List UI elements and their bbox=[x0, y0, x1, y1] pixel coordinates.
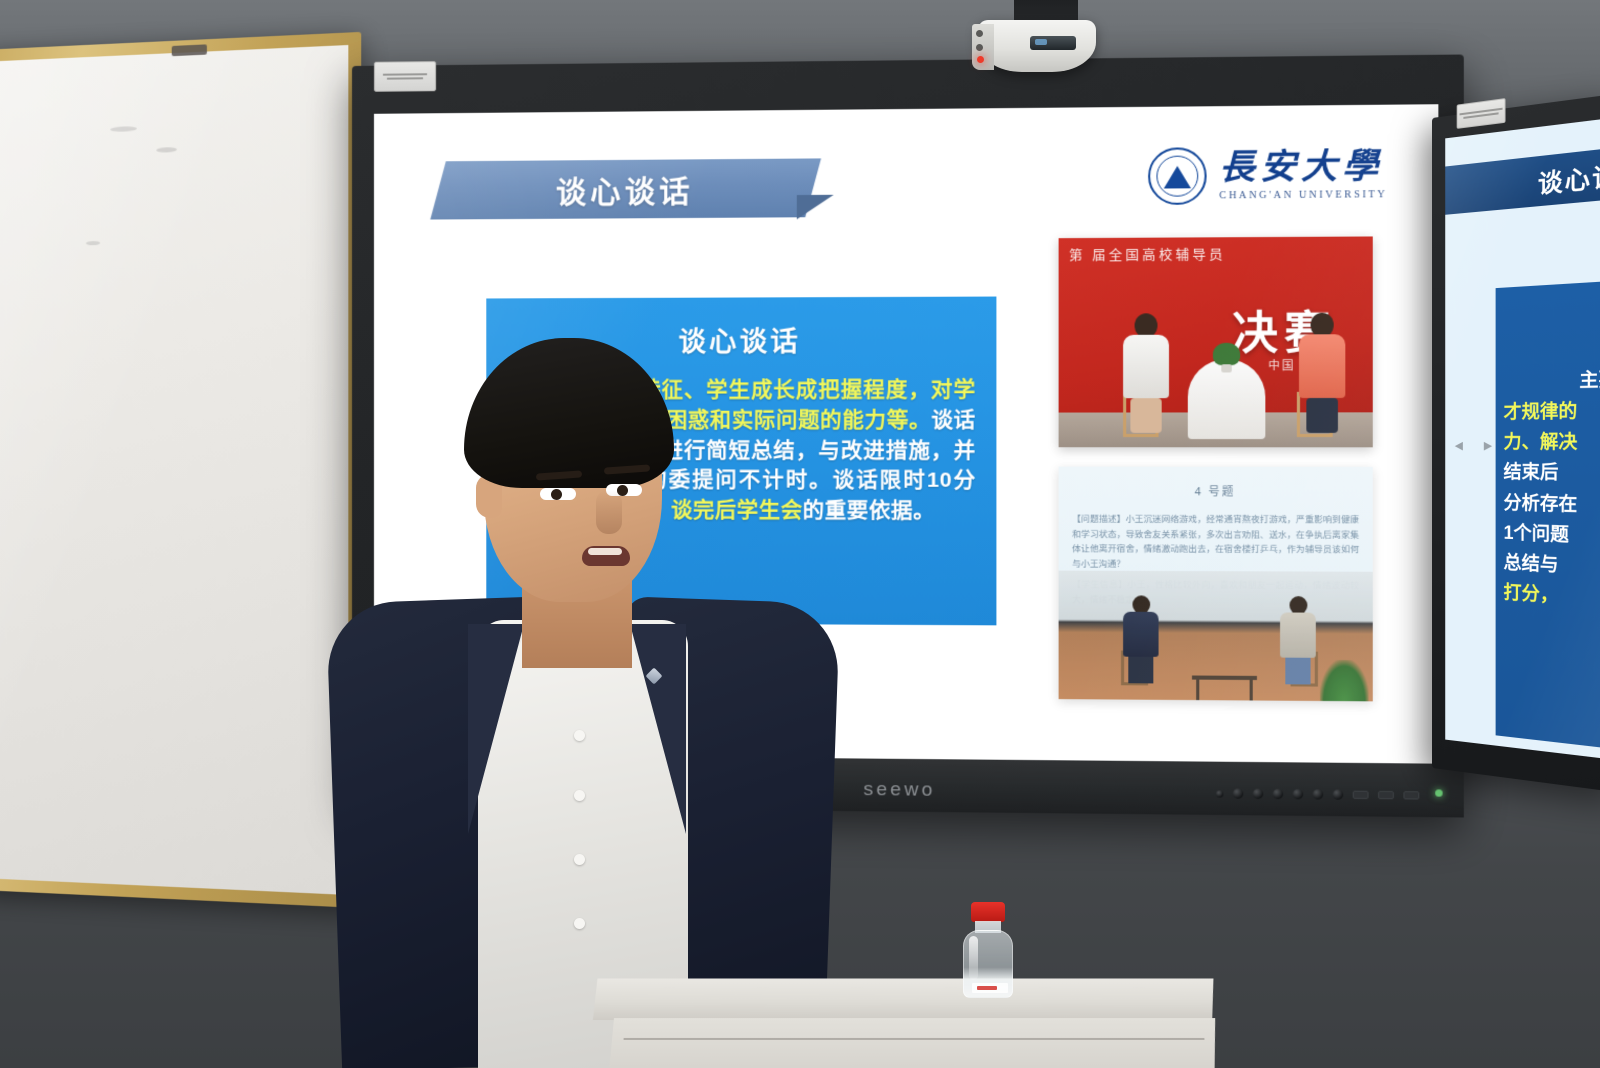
lectern-seam bbox=[624, 1038, 1205, 1040]
text-card-paragraph-1: 【问题描述】小王沉迷网络游戏，经常通宵熬夜打游戏，严重影响到健康和学习状态，导致… bbox=[1059, 511, 1373, 572]
secondary-line-3: 结束后 bbox=[1504, 458, 1600, 490]
secondary-line-1: 才规律的 bbox=[1504, 396, 1600, 428]
mouth bbox=[582, 546, 630, 566]
whiteboard-smudge bbox=[156, 147, 177, 153]
port-dot-icon[interactable] bbox=[1253, 789, 1263, 799]
slide-banner-tail bbox=[797, 195, 834, 220]
camera-screw-icon bbox=[976, 44, 983, 51]
whiteboard-smudge bbox=[110, 126, 137, 132]
chevron-left-icon[interactable]: ◀ bbox=[1455, 439, 1463, 452]
jacket-lapel-left bbox=[468, 624, 524, 834]
secondary-display[interactable]: 谈心谈 主要 才规律的 力、解决 结束后 分析存在 1个问题 总结与 打分， ◀… bbox=[1432, 93, 1600, 794]
asset-tag-sticker bbox=[374, 61, 436, 92]
port-dot-icon[interactable] bbox=[1313, 789, 1324, 799]
display-port-row[interactable] bbox=[1216, 788, 1419, 800]
person-legs bbox=[1285, 658, 1310, 685]
port-dot-icon[interactable] bbox=[1273, 789, 1284, 799]
slide-banner: 谈心谈话 bbox=[430, 158, 821, 219]
person-body bbox=[1280, 612, 1316, 657]
port-dot-icon[interactable] bbox=[1233, 788, 1243, 798]
port-dot-icon[interactable] bbox=[1216, 790, 1223, 797]
photo-person-left bbox=[1123, 313, 1169, 433]
speaker bbox=[300, 338, 880, 1068]
person-body bbox=[1123, 612, 1158, 657]
person-legs bbox=[1128, 657, 1153, 684]
port-dot-icon[interactable] bbox=[1333, 789, 1344, 799]
secondary-blue-panel: 主要 才规律的 力、解决 结束后 分析存在 1个问题 总结与 打分， bbox=[1496, 280, 1600, 750]
person-body bbox=[1123, 335, 1169, 398]
whiteboard-surface bbox=[0, 45, 348, 895]
whiteboard-smudge bbox=[86, 241, 100, 245]
camera-lens-icon bbox=[1030, 36, 1076, 50]
shirt-button bbox=[574, 854, 585, 865]
shirt-button bbox=[574, 918, 585, 929]
interview-photo-red-backdrop: 第 届全国高校辅导员 决赛 中国 20 bbox=[1059, 236, 1373, 447]
person-body bbox=[1299, 334, 1345, 398]
camera-screw-icon bbox=[976, 30, 983, 37]
hdmi-slot-icon[interactable] bbox=[1403, 791, 1419, 799]
stage-plant bbox=[1320, 660, 1369, 701]
shirt-button bbox=[574, 790, 585, 801]
slide-banner-title: 谈心谈话 bbox=[556, 166, 694, 211]
stage-interview-photo bbox=[1059, 571, 1373, 702]
photo-plant bbox=[1213, 343, 1240, 366]
secondary-line-4: 分析存在 bbox=[1504, 488, 1600, 522]
power-led-indicator bbox=[1435, 789, 1442, 796]
classroom-scene: 谈心谈话 長安大學 CHANG'AN UNIVERSITY 谈心谈话 辅导员对学… bbox=[0, 0, 1600, 1068]
bottle-label bbox=[972, 983, 1008, 993]
person-legs bbox=[1306, 398, 1338, 433]
usb-slot-icon[interactable] bbox=[1353, 791, 1369, 799]
secondary-banner-title: 谈心谈 bbox=[1538, 154, 1600, 199]
lectern bbox=[592, 979, 1216, 1068]
secondary-line-7: 打分， bbox=[1504, 578, 1600, 616]
jacket-lapel-right bbox=[630, 624, 686, 834]
secondary-line-2: 力、解决 bbox=[1504, 427, 1600, 458]
bottle-highlight bbox=[969, 936, 978, 980]
nose bbox=[596, 490, 622, 534]
lectern-body bbox=[608, 1018, 1215, 1068]
water-bottle[interactable] bbox=[957, 902, 1019, 998]
port-dot-icon[interactable] bbox=[1293, 789, 1304, 799]
university-name-en: CHANG'AN UNIVERSITY bbox=[1219, 190, 1387, 201]
person-legs bbox=[1130, 398, 1161, 433]
eye-left bbox=[540, 488, 576, 500]
university-seal-icon bbox=[1148, 147, 1207, 205]
shirt-button bbox=[574, 730, 585, 741]
whiteboard-clip bbox=[172, 44, 207, 56]
camera-side-plate bbox=[972, 24, 994, 70]
secondary-line-0: 主要 bbox=[1504, 364, 1600, 398]
secondary-display-screen[interactable]: 谈心谈 主要 才规律的 力、解决 结束后 分析存在 1个问题 总结与 打分， ◀… bbox=[1445, 116, 1600, 761]
stage-person-right bbox=[1280, 596, 1316, 684]
university-names: 長安大學 CHANG'AN UNIVERSITY bbox=[1219, 149, 1387, 200]
camera-status-led bbox=[977, 56, 984, 63]
chevron-right-icon[interactable]: ▶ bbox=[1484, 439, 1492, 452]
stage-table bbox=[1192, 675, 1257, 680]
question-text-card: 4 号题 【问题描述】小王沉迷网络游戏，经常通宵熬夜打游戏，严重影响到健康和学习… bbox=[1059, 467, 1373, 702]
ptz-camera bbox=[968, 0, 1104, 90]
photo-person-right bbox=[1299, 313, 1345, 433]
usb-slot-icon[interactable] bbox=[1378, 791, 1394, 799]
university-name-cn: 長安大學 bbox=[1219, 149, 1387, 185]
lectern-top-surface bbox=[593, 979, 1214, 1020]
text-card-title: 4 号题 bbox=[1059, 483, 1373, 500]
bottle-cap bbox=[971, 902, 1005, 922]
stage-person-left bbox=[1123, 595, 1158, 683]
university-logo: 長安大學 CHANG'AN UNIVERSITY bbox=[1148, 146, 1387, 205]
secondary-slide-banner: 谈心谈 bbox=[1445, 147, 1600, 215]
photo-banner-text: 第 届全国高校辅导员 bbox=[1069, 243, 1362, 264]
panel-text-4: 谈话 bbox=[931, 408, 976, 431]
